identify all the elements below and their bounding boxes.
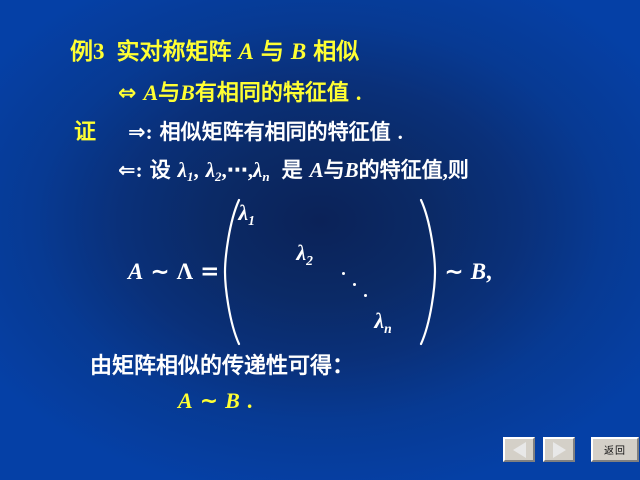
matrix-body: λ1 λ2 λn — [224, 198, 436, 346]
transitive-colon: ： — [332, 354, 354, 379]
matrix-rhs-b: B — [471, 259, 486, 284]
lambda-2-inline: λ2 — [206, 158, 222, 182]
proof-backward-line: ⇐:设λ1,λ2,⋯,λn是A与B的特征值,则 — [118, 160, 469, 181]
diagonal-dots-icon — [340, 270, 374, 304]
slide-canvas: 例3实对称矩阵A与B相似 ⇔A与B有相同的特征值. 证 ⇒:相似矩阵有相同的特征… — [0, 0, 640, 480]
equivalence-symbol-a: A — [143, 80, 158, 105]
backward-let: 设 — [150, 158, 171, 182]
backward-comma-1: , — [193, 158, 198, 182]
matrix-equation: A~Λ= λ1 λ2 λn — [128, 198, 492, 346]
proof-forward-line: ⇒:相似矩阵有相同的特征值. — [128, 122, 403, 143]
triangle-left-icon — [513, 442, 526, 458]
backward-ellipsis: ⋯ — [227, 158, 248, 182]
return-button[interactable]: 返回 — [591, 437, 639, 462]
example-title: 例3实对称矩阵A与B相似 — [70, 40, 359, 64]
forward-period: . — [398, 120, 403, 144]
matrix-lhs-sim: ~ — [150, 259, 169, 285]
equivalence-period: . — [356, 80, 362, 105]
equivalence-text: 有相同的特征值 — [195, 81, 349, 106]
matrix-lambda-capital: Λ — [177, 259, 194, 284]
matrix-rhs: ~B, — [444, 259, 491, 285]
title-conjunction: 与 — [261, 39, 284, 65]
backward-conjunction: 与 — [324, 158, 345, 182]
backward-then: 则 — [448, 158, 469, 182]
lambda-n-inline: λn — [253, 158, 270, 182]
forward-text: 相似矩阵有相同的特征值 — [160, 120, 391, 144]
matrix-entry-lambda-n: λn — [374, 308, 391, 334]
previous-slide-button[interactable] — [503, 437, 535, 462]
lambda-1-inline: λ1 — [178, 158, 194, 182]
matrix-rhs-sim: ~ — [444, 259, 463, 285]
implies-arrow-icon: ⇒ — [128, 120, 146, 144]
conclusion-period: . — [247, 388, 253, 413]
backward-symbol-a: A — [310, 158, 324, 182]
backward-is: 是 — [282, 158, 303, 182]
matrix-rhs-comma: , — [486, 259, 492, 284]
matrix-right-bracket-icon — [418, 198, 440, 346]
example-label: 例 — [70, 39, 93, 65]
title-statement: 实对称矩阵 — [117, 39, 232, 65]
conclusion-line: A~B. — [178, 390, 252, 413]
title-symbol-b: B — [291, 39, 306, 64]
equivalence-conjunction: 与 — [158, 81, 180, 106]
implied-by-arrow-icon: ⇐ — [118, 158, 136, 182]
conclusion-symbol-b: B — [225, 388, 240, 413]
example-number: 3 — [93, 39, 105, 64]
conclusion-symbol-a: A — [178, 388, 193, 413]
transitive-text: 由矩阵相似的传递性可得 — [90, 354, 332, 379]
backward-colon: : — [136, 158, 143, 182]
matrix-entry-lambda-1: λ1 — [238, 200, 255, 226]
backward-tail: 的特征值 — [359, 158, 443, 182]
matrix-entry-lambda-2: λ2 — [296, 240, 313, 266]
matrix-lhs: A~Λ= — [128, 259, 219, 285]
equivalence-symbol-b: B — [180, 80, 195, 105]
matrix-lhs-a: A — [128, 259, 143, 284]
proof-label: 证 — [74, 122, 96, 144]
conclusion-sim: ~ — [200, 389, 218, 414]
backward-symbol-b: B — [345, 158, 359, 182]
title-relation: 相似 — [313, 39, 359, 65]
triangle-right-icon — [553, 442, 566, 458]
transitive-line: 由矩阵相似的传递性可得： — [90, 355, 354, 378]
matrix-equals: = — [200, 259, 219, 285]
iff-arrow-icon: ⇔ — [118, 81, 136, 106]
next-slide-button[interactable] — [543, 437, 575, 462]
navigation-bar: 返回 — [503, 437, 639, 462]
equivalence-line: ⇔A与B有相同的特征值. — [118, 82, 361, 105]
forward-colon: : — [146, 120, 153, 144]
title-symbol-a: A — [239, 39, 254, 64]
